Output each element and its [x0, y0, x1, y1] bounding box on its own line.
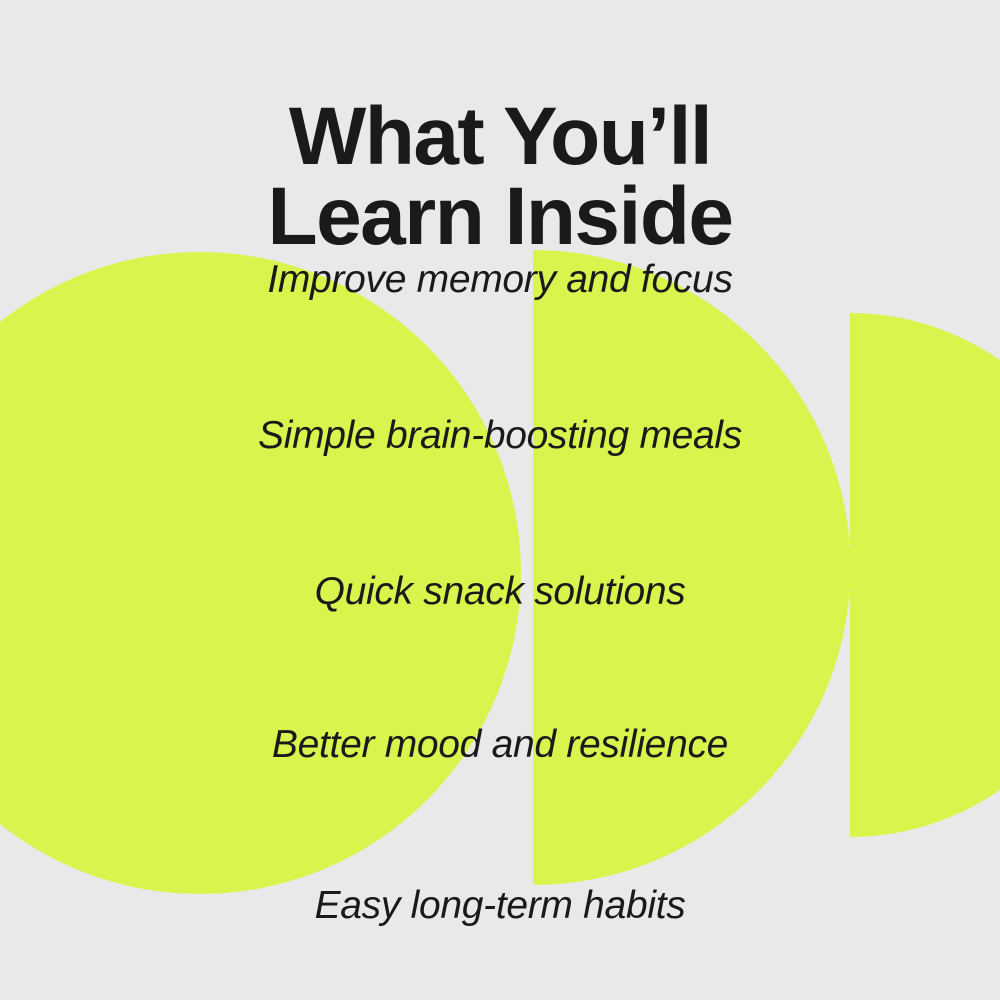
list-item: Better mood and resilience	[0, 723, 1000, 767]
list-item: Easy long-term habits	[0, 884, 1000, 928]
benefit-list: Improve memory and focus Simple brain-bo…	[0, 0, 1000, 1000]
poster-canvas: What You’ll Learn Inside Improve memory …	[0, 0, 1000, 1000]
list-item: Simple brain-boosting meals	[0, 414, 1000, 458]
list-item: Improve memory and focus	[0, 258, 1000, 302]
list-item: Quick snack solutions	[0, 570, 1000, 614]
